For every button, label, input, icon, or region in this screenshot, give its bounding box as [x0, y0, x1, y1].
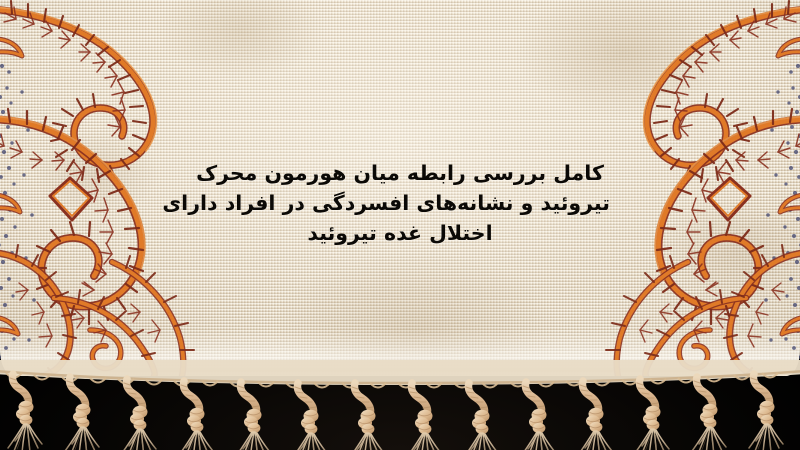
- slide-canvas: کامل بررسی رابطه میان هورمون محرک تیروئی…: [0, 0, 800, 450]
- fabric-hem-edge: [0, 330, 800, 376]
- title-line-3: اختلال غده تیروئید: [190, 218, 610, 248]
- title-line-2: تیروئید و نشانه‌های افسردگی در افراد دار…: [190, 188, 610, 218]
- title-line-1: کامل بررسی رابطه میان هورمون محرک: [190, 158, 610, 188]
- page-title: کامل بررسی رابطه میان هورمون محرک تیروئی…: [190, 158, 610, 248]
